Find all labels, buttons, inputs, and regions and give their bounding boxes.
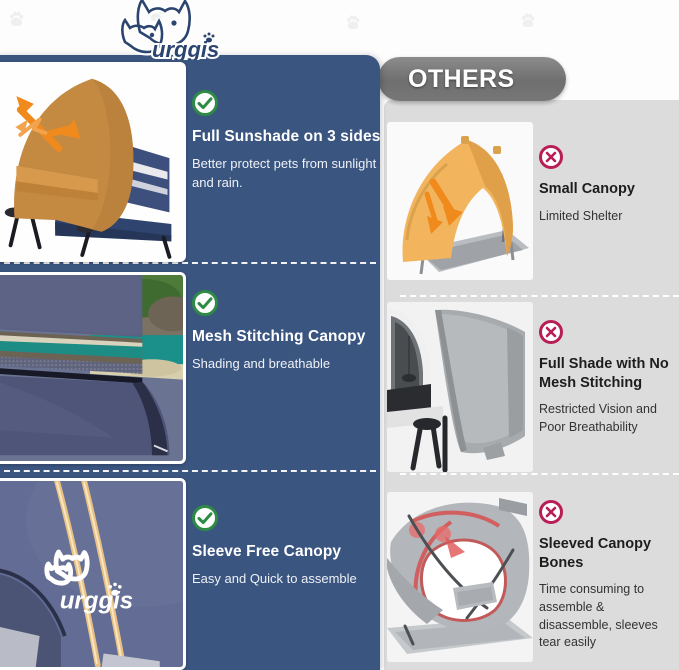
green-check-circle-icon [192,90,218,116]
others-feature-1-desc: Limited Shelter [539,208,675,226]
others-feature-1-title: Small Canopy [539,180,675,199]
ours-divider-1 [4,262,376,264]
ours-feature-3-title: Sleeve Free Canopy [192,542,382,561]
svg-text:urggis: urggis [60,587,133,614]
ours-feature-3-desc: Easy and Quick to assemble [192,570,382,589]
red-x-circle-icon [539,145,563,169]
red-x-circle-icon [539,320,563,344]
others-header-label: OTHERS [408,65,515,94]
others-photo-small-canopy [387,122,533,280]
infographic-canvas: OTHERS urggis [0,0,679,670]
paw-print-icon [520,12,536,28]
ours-photo-full-sunshade [0,62,186,262]
green-check-circle-icon [192,290,218,316]
others-feature-1: Small Canopy Limited Shelter [539,145,675,225]
others-feature-3: Sleeved Canopy Bones Time consuming to a… [539,500,675,652]
others-feature-2-title: Full Shade with No Mesh Stitching [539,355,675,392]
ours-feature-2-title: Mesh Stitching Canopy [192,327,382,346]
brand-logo: urggis [104,0,234,60]
others-feature-2: Full Shade with No Mesh Stitching Restri… [539,320,675,437]
ours-feature-2: Mesh Stitching Canopy Shading and breath… [192,290,382,374]
ours-divider-2 [4,470,376,472]
ours-photo-sleeve-free-canopy: urggis [0,478,186,670]
paw-print-icon [345,14,361,30]
ours-photo-mesh-canopy [0,272,186,464]
others-feature-2-desc: Restricted Vision and Poor Breathability [539,401,675,437]
others-photo-sleeved-canopy-bones [387,492,533,662]
ours-feature-2-desc: Shading and breathable [192,355,382,374]
others-feature-3-title: Sleeved Canopy Bones [539,535,675,572]
red-x-circle-icon [539,500,563,524]
ours-feature-1-title: Full Sunshade on 3 sides [192,127,382,146]
ours-feature-3: Sleeve Free Canopy Easy and Quick to ass… [192,505,382,589]
others-divider-2 [400,473,679,475]
green-check-circle-icon [192,505,218,531]
others-divider-1 [400,295,679,297]
ours-feature-1-desc: Better protect pets from sunlight and ra… [192,155,382,193]
others-feature-3-desc: Time consuming to assemble & disassemble… [539,581,675,652]
others-photo-no-mesh-stitching [387,302,533,472]
paw-print-icon [8,10,25,27]
ours-feature-1: Full Sunshade on 3 sides Better protect … [192,90,382,193]
